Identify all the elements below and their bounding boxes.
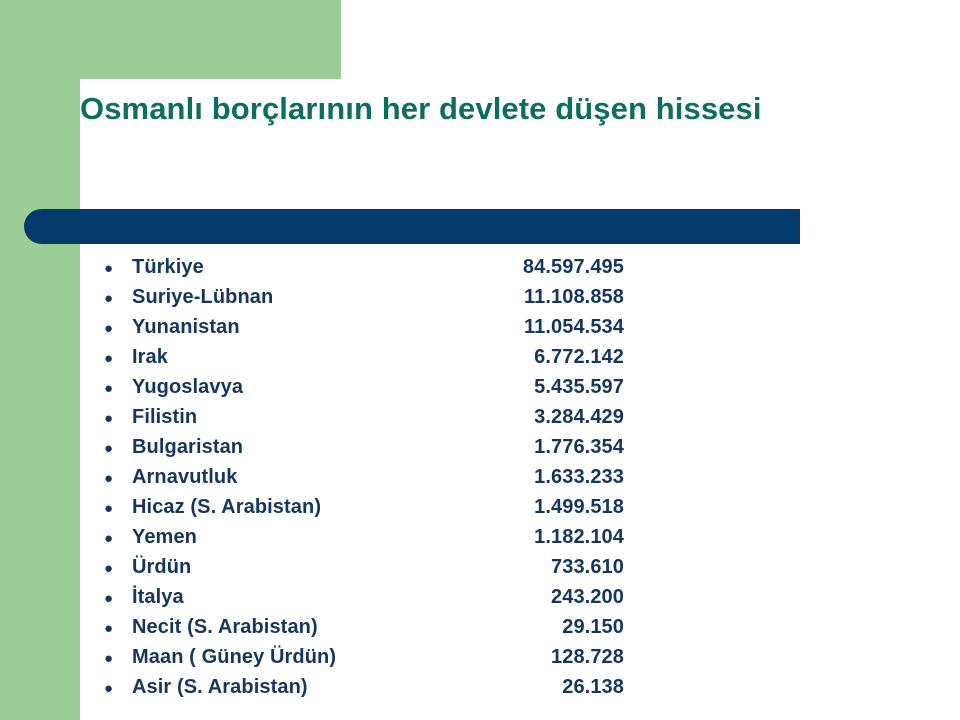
list-item-label: Arnavutluk bbox=[132, 466, 492, 489]
bullet-dot-icon bbox=[104, 591, 132, 606]
list-item-label: Türkiye bbox=[132, 256, 492, 279]
list-item-value: 128.728 bbox=[492, 646, 624, 669]
list-item-value: 1.182.104 bbox=[492, 526, 624, 549]
list-item-label: Suriye-Lübnan bbox=[132, 286, 492, 309]
list-item: Asir (S. Arabistan)26.138 bbox=[104, 676, 624, 706]
slide: Osmanlı borçlarının her devlete düşen hi… bbox=[0, 0, 960, 720]
list-item-label: Yugoslavya bbox=[132, 376, 492, 399]
list-item: Ürdün733.610 bbox=[104, 556, 624, 586]
list-item-label: Filistin bbox=[132, 406, 492, 429]
list-item-value: 1.776.354 bbox=[492, 436, 624, 459]
bullet-dot-icon bbox=[104, 531, 132, 546]
list-item: Maan ( Güney Ürdün)128.728 bbox=[104, 646, 624, 676]
list-item: Hicaz (S. Arabistan)1.499.518 bbox=[104, 496, 624, 526]
list-item: Yugoslavya5.435.597 bbox=[104, 376, 624, 406]
bullet-dot-icon bbox=[104, 381, 132, 396]
bullet-dot-icon bbox=[104, 321, 132, 336]
list-item-value: 6.772.142 bbox=[492, 346, 624, 369]
list-item: İtalya243.200 bbox=[104, 586, 624, 616]
list-item-value: 243.200 bbox=[492, 586, 624, 609]
list-item-value: 84.597.495 bbox=[492, 256, 624, 279]
title-divider-bar bbox=[24, 209, 800, 244]
decorative-green-top-block bbox=[0, 0, 341, 79]
bullet-dot-icon bbox=[104, 471, 132, 486]
list-item: Yunanistan11.054.534 bbox=[104, 316, 624, 346]
list-item-label: Hicaz (S. Arabistan) bbox=[132, 496, 492, 519]
list-item: Bulgaristan1.776.354 bbox=[104, 436, 624, 466]
list-item-value: 5.435.597 bbox=[492, 376, 624, 399]
list-item-label: Yunanistan bbox=[132, 316, 492, 339]
list-item-value: 3.284.429 bbox=[492, 406, 624, 429]
page-title: Osmanlı borçlarının her devlete düşen hi… bbox=[80, 89, 900, 129]
list-item: Arnavutluk1.633.233 bbox=[104, 466, 624, 496]
list-item: Suriye-Lübnan11.108.858 bbox=[104, 286, 624, 316]
list-item-label: Yemen bbox=[132, 526, 492, 549]
list-item-value: 733.610 bbox=[492, 556, 624, 579]
bullet-dot-icon bbox=[104, 291, 132, 306]
list-item-label: Ürdün bbox=[132, 556, 492, 579]
list-item-value: 1.633.233 bbox=[492, 466, 624, 489]
list-item-value: 1.499.518 bbox=[492, 496, 624, 519]
list-item-value: 11.108.858 bbox=[492, 286, 624, 309]
list-item-value: 26.138 bbox=[492, 676, 624, 699]
decorative-green-left-strip bbox=[0, 0, 80, 720]
bullet-dot-icon bbox=[104, 441, 132, 456]
bullet-dot-icon bbox=[104, 651, 132, 666]
list-item: Türkiye84.597.495 bbox=[104, 256, 624, 286]
list-item: Yemen1.182.104 bbox=[104, 526, 624, 556]
list-item-label: İtalya bbox=[132, 586, 492, 609]
list-item-label: Necit (S. Arabistan) bbox=[132, 616, 492, 639]
list-item-label: Maan ( Güney Ürdün) bbox=[132, 646, 492, 669]
list-item-label: Bulgaristan bbox=[132, 436, 492, 459]
list-item: Filistin3.284.429 bbox=[104, 406, 624, 436]
bullet-dot-icon bbox=[104, 681, 132, 696]
list-item: Necit (S. Arabistan)29.150 bbox=[104, 616, 624, 646]
bullet-dot-icon bbox=[104, 561, 132, 576]
list-item-value: 11.054.534 bbox=[492, 316, 624, 339]
list-item: Irak6.772.142 bbox=[104, 346, 624, 376]
bullet-dot-icon bbox=[104, 261, 132, 276]
list-item-label: Asir (S. Arabistan) bbox=[132, 676, 492, 699]
bullet-dot-icon bbox=[104, 621, 132, 636]
bullet-dot-icon bbox=[104, 411, 132, 426]
debt-share-list: Türkiye84.597.495Suriye-Lübnan11.108.858… bbox=[104, 256, 624, 706]
list-item-value: 29.150 bbox=[492, 616, 624, 639]
list-item-label: Irak bbox=[132, 346, 492, 369]
bullet-dot-icon bbox=[104, 351, 132, 366]
bullet-dot-icon bbox=[104, 501, 132, 516]
